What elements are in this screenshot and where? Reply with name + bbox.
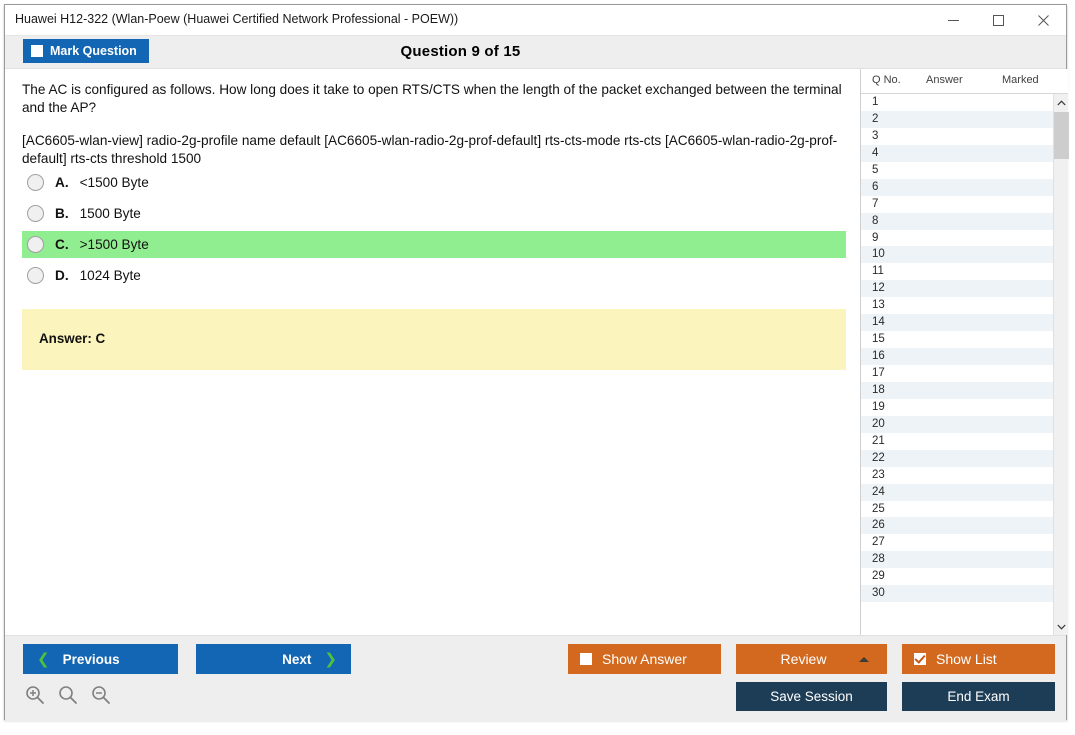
header-bar: Mark Question Question 9 of 15 [5,36,1066,69]
question-list-row[interactable]: 7 [861,196,1053,213]
question-list-row[interactable]: 13 [861,297,1053,314]
maximize-button[interactable] [976,5,1021,35]
question-config-snippet: [AC6605-wlan-view] radio-2g-profile name… [22,132,846,168]
question-number: 28 [872,551,885,568]
chevron-up-icon [1057,100,1066,106]
review-dropdown-button[interactable]: Review [736,644,887,674]
question-list-row[interactable]: 1 [861,94,1053,111]
scroll-down-button[interactable] [1054,618,1069,635]
title-bar: Huawei H12-322 (Wlan-Poew (Huawei Certif… [5,5,1066,36]
question-number: 22 [872,450,885,467]
show-answer-label: Show Answer [602,651,687,667]
question-list-row[interactable]: 26 [861,517,1053,534]
question-list-row[interactable]: 8 [861,213,1053,230]
column-header-answer: Answer [926,74,963,86]
question-list-row[interactable]: 11 [861,263,1053,280]
question-list-row[interactable]: 20 [861,416,1053,433]
close-icon [1038,15,1049,26]
chevron-left-icon: ❮ [37,652,50,667]
show-list-checkbox-icon [914,653,926,665]
question-number: 5 [872,162,878,179]
option-letter: D. [55,268,69,283]
option-a[interactable]: A. <1500 Byte [22,169,846,196]
radio-icon[interactable] [27,205,44,222]
question-number: 15 [872,331,885,348]
save-session-label: Save Session [770,689,853,704]
question-list-row[interactable]: 10 [861,246,1053,263]
column-header-qno: Q No. [872,74,901,86]
question-list-panel: Q No. Answer Marked 12345678910111213141… [860,69,1068,635]
question-pane: The AC is configured as follows. How lon… [5,69,860,635]
zoom-in-icon[interactable] [24,684,46,706]
question-number: 29 [872,568,885,585]
option-text: 1024 Byte [80,268,141,283]
question-list-row[interactable]: 24 [861,484,1053,501]
question-number: 14 [872,314,885,331]
question-list-row[interactable]: 28 [861,551,1053,568]
question-list-row[interactable]: 6 [861,179,1053,196]
show-answer-button[interactable]: Show Answer [568,644,721,674]
option-letter: B. [55,206,69,221]
body-split: The AC is configured as follows. How lon… [5,69,1066,635]
question-number: 6 [872,179,878,196]
maximize-icon [993,15,1004,26]
chevron-up-icon [859,657,869,662]
scrollbar-thumb[interactable] [1054,112,1069,159]
option-text: >1500 Byte [80,237,149,252]
question-number: 21 [872,433,885,450]
scroll-up-button[interactable] [1054,94,1069,111]
next-button[interactable]: Next ❯ [196,644,351,674]
question-number: 1 [872,94,878,111]
question-list-row[interactable]: 18 [861,382,1053,399]
question-number: 20 [872,416,885,433]
exam-window: Huawei H12-322 (Wlan-Poew (Huawei Certif… [4,4,1067,720]
question-list-row[interactable]: 5 [861,162,1053,179]
question-list-row[interactable]: 23 [861,467,1053,484]
question-list-row[interactable]: 27 [861,534,1053,551]
radio-icon[interactable] [27,174,44,191]
radio-icon[interactable] [27,267,44,284]
answer-text: Answer: C [39,331,105,346]
question-number: 3 [872,128,878,145]
question-list-row[interactable]: 2 [861,111,1053,128]
review-label: Review [748,651,859,667]
minimize-icon [948,15,959,26]
question-number: 12 [872,280,885,297]
question-list-row[interactable]: 19 [861,399,1053,416]
question-list-row[interactable]: 17 [861,365,1053,382]
question-number: 11 [872,263,884,280]
option-letter: C. [55,237,69,252]
question-number: 13 [872,297,885,314]
question-number: 25 [872,501,885,518]
zoom-reset-icon[interactable] [57,684,79,706]
chevron-right-icon: ❯ [324,652,337,667]
question-list-row[interactable]: 3 [861,128,1053,145]
question-number: 16 [872,348,885,365]
question-list-scrollbar[interactable] [1053,94,1068,635]
previous-button[interactable]: ❮ Previous [23,644,178,674]
question-list-rows[interactable]: 1234567891011121314151617181920212223242… [861,94,1053,635]
option-d[interactable]: D. 1024 Byte [22,262,846,289]
question-number: 7 [872,196,878,213]
show-list-button[interactable]: Show List [902,644,1055,674]
end-exam-label: End Exam [947,689,1009,704]
window-controls [931,5,1066,35]
question-number: 23 [872,467,885,484]
radio-icon[interactable] [27,236,44,253]
show-answer-checkbox-icon [580,653,592,665]
question-number: 19 [872,399,885,416]
question-list-row[interactable]: 9 [861,230,1053,247]
question-list-header: Q No. Answer Marked [861,69,1068,94]
question-number: 2 [872,111,878,128]
question-list-row[interactable]: 21 [861,433,1053,450]
question-list-row[interactable]: 16 [861,348,1053,365]
option-text: 1500 Byte [80,206,141,221]
question-number: 27 [872,534,885,551]
show-list-label: Show List [936,651,997,667]
zoom-tools [24,684,112,706]
question-list-row[interactable]: 14 [861,314,1053,331]
question-list-row[interactable]: 22 [861,450,1053,467]
question-number: 8 [872,213,878,230]
page-title: Question 9 of 15 [5,43,1066,60]
question-number: 9 [872,230,878,247]
next-label: Next [282,652,311,667]
window-title: Huawei H12-322 (Wlan-Poew (Huawei Certif… [15,12,458,26]
question-number: 17 [872,365,885,382]
question-number: 30 [872,585,885,602]
previous-label: Previous [63,652,120,667]
column-header-marked: Marked [1002,74,1039,86]
question-number: 26 [872,517,885,534]
option-c[interactable]: C. >1500 Byte [22,231,846,258]
question-number: 10 [872,246,885,263]
footer-bar: ❮ Previous Next ❯ Show Answer Review Sho… [5,635,1066,722]
question-number: 4 [872,145,878,162]
close-button[interactable] [1021,5,1066,35]
answer-options: A. <1500 Byte B. 1500 Byte C. >1500 Byte… [22,169,846,293]
question-list-row[interactable]: 15 [861,331,1053,348]
question-list-row[interactable]: 12 [861,280,1053,297]
zoom-out-icon[interactable] [90,684,112,706]
chevron-down-icon [1057,624,1066,630]
question-list-row[interactable]: 30 [861,585,1053,602]
question-number: 24 [872,484,885,501]
minimize-button[interactable] [931,5,976,35]
question-list-row[interactable]: 4 [861,145,1053,162]
question-number: 18 [872,382,885,399]
question-text: The AC is configured as follows. How lon… [22,81,846,183]
question-list-row[interactable]: 29 [861,568,1053,585]
option-text: <1500 Byte [80,175,149,190]
answer-panel: Answer: C [22,309,846,370]
question-list-row[interactable]: 25 [861,501,1053,518]
question-prompt: The AC is configured as follows. How lon… [22,81,846,117]
option-letter: A. [55,175,69,190]
option-b[interactable]: B. 1500 Byte [22,200,846,227]
end-exam-button[interactable]: End Exam [902,682,1055,711]
save-session-button[interactable]: Save Session [736,682,887,711]
